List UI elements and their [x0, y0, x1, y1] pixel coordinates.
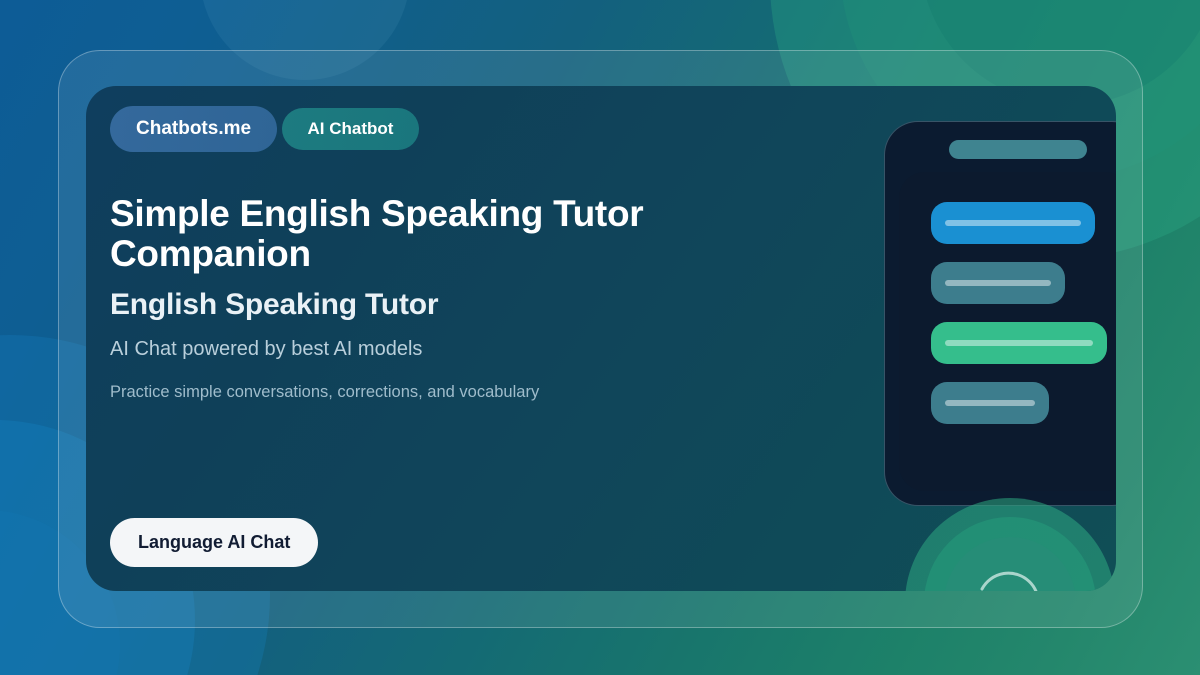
- chat-bubble-1-text-line: [945, 220, 1081, 226]
- avatar-ring-inner: [944, 537, 1076, 591]
- promo-banner: Chatbots.me AI Chatbot Simple English Sp…: [0, 0, 1200, 675]
- chat-bubble-2-text-line: [945, 280, 1051, 286]
- phone-header-bar: [949, 140, 1087, 159]
- tagline-text: AI Chat powered by best AI models: [110, 338, 800, 361]
- brand-badge[interactable]: Chatbots.me: [110, 106, 277, 152]
- smiley-face-icon: [958, 551, 1062, 591]
- chat-bubble-4: [931, 382, 1049, 424]
- page-subtitle: English Speaking Tutor: [110, 288, 800, 322]
- hero-card: Chatbots.me AI Chatbot Simple English Sp…: [86, 86, 1116, 591]
- chat-bubble-3-text-line: [945, 340, 1093, 346]
- chat-bubble-3: [931, 322, 1107, 364]
- page-title: Simple English Speaking Tutor Companion: [110, 194, 750, 274]
- chat-bubble-1: [931, 202, 1095, 244]
- chat-bubble-2: [931, 262, 1065, 304]
- chat-screen: [899, 172, 1116, 491]
- language-ai-chat-button[interactable]: Language AI Chat: [110, 518, 318, 567]
- chat-bubble-4-text-line: [945, 400, 1035, 406]
- phone-mockup: [884, 121, 1116, 506]
- avatar-ring-middle: [924, 517, 1096, 591]
- avatar: [905, 498, 1115, 591]
- description-text: Practice simple conversations, correctio…: [110, 383, 800, 402]
- category-badge[interactable]: AI Chatbot: [282, 108, 420, 150]
- hero-content: Chatbots.me AI Chatbot Simple English Sp…: [110, 106, 800, 402]
